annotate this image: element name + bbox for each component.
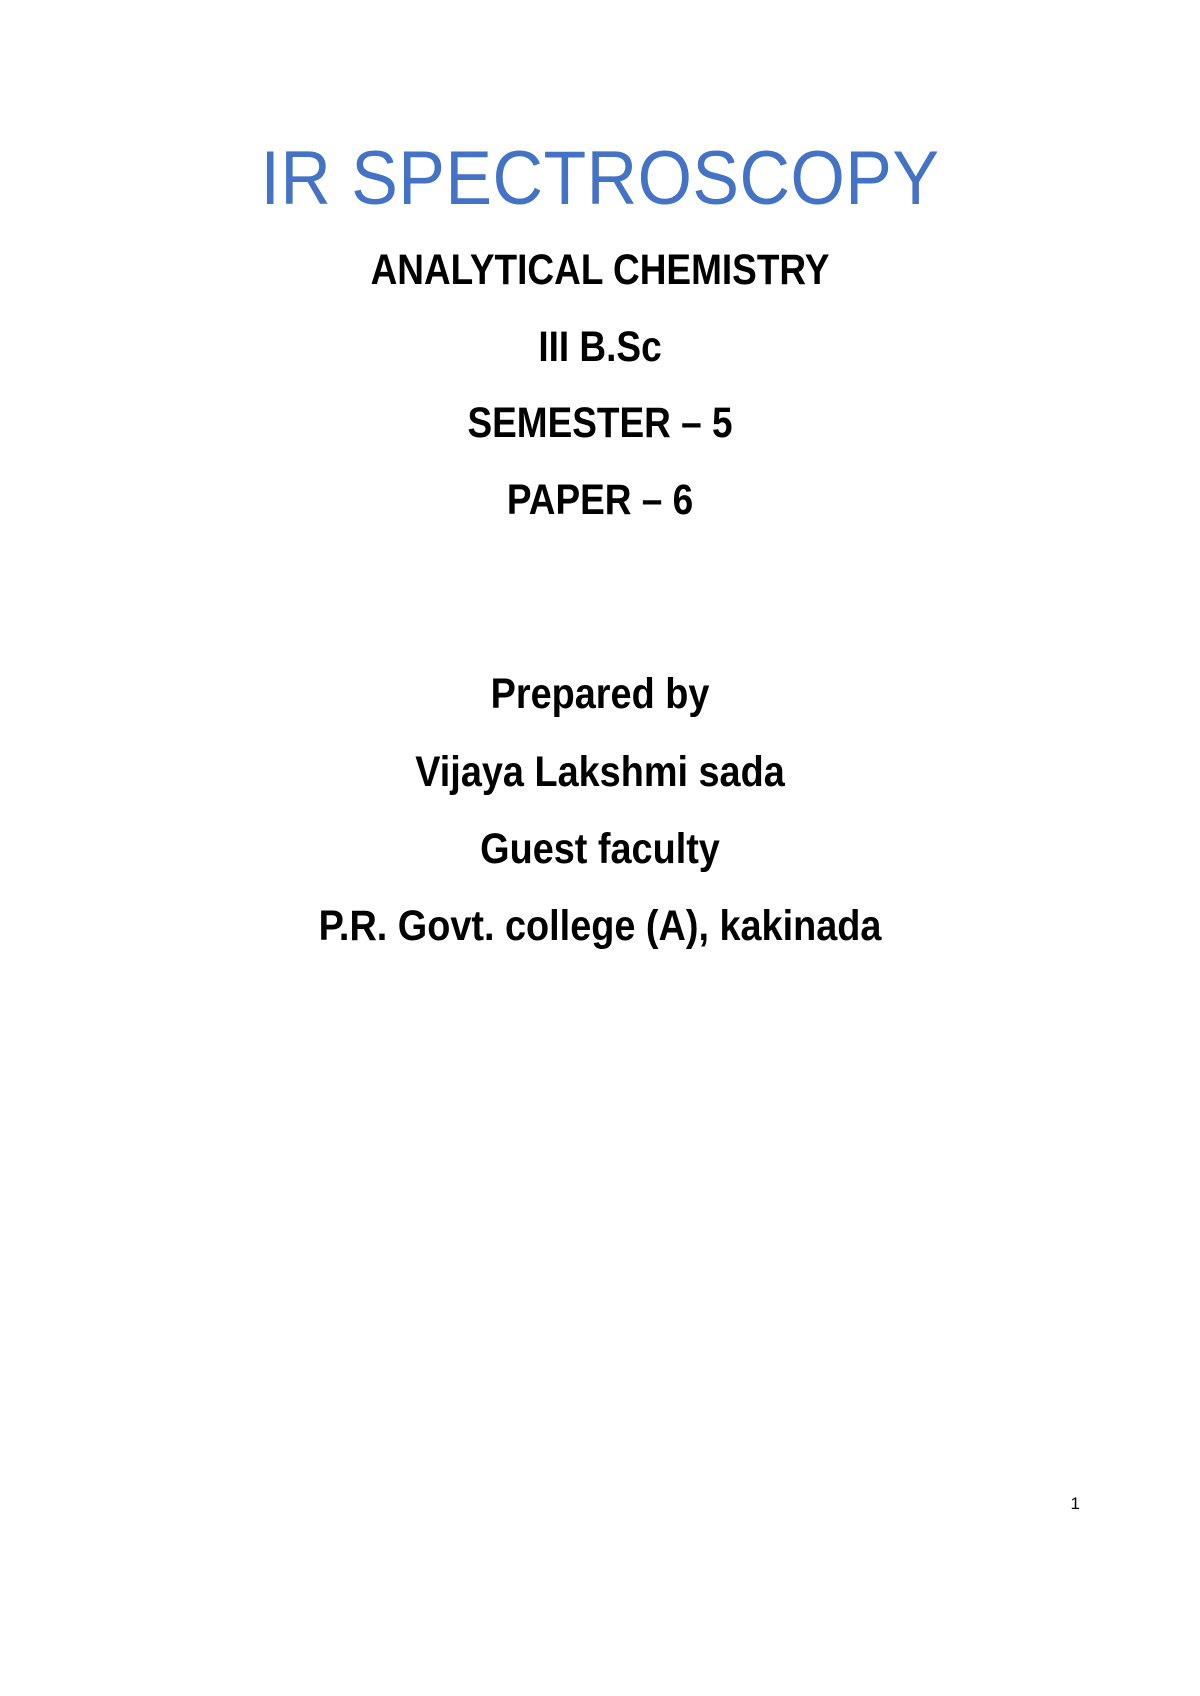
author-designation: Guest faculty bbox=[178, 811, 1023, 888]
course-line-paper: PAPER – 6 bbox=[187, 462, 1013, 539]
prepared-by-label: Prepared by bbox=[178, 656, 1023, 733]
course-line-subject: ANALYTICAL CHEMISTRY bbox=[187, 232, 1013, 309]
section-spacer bbox=[120, 538, 1080, 656]
page-title: IR SPECTROSCOPY bbox=[158, 0, 1041, 220]
course-line-semester: SEMESTER – 5 bbox=[187, 385, 1013, 462]
course-line-degree: III B.Sc bbox=[187, 309, 1013, 386]
author-name: Vijaya Lakshmi sada bbox=[178, 734, 1023, 811]
author-institution: P.R. Govt. college (A), kakinada bbox=[178, 888, 1023, 965]
title-page-content: IR SPECTROSCOPY ANALYTICAL CHEMISTRY III… bbox=[120, 0, 1080, 966]
footer-page-number: 1 bbox=[1071, 1494, 1080, 1514]
document-page: IR SPECTROSCOPY ANALYTICAL CHEMISTRY III… bbox=[0, 0, 1200, 1696]
